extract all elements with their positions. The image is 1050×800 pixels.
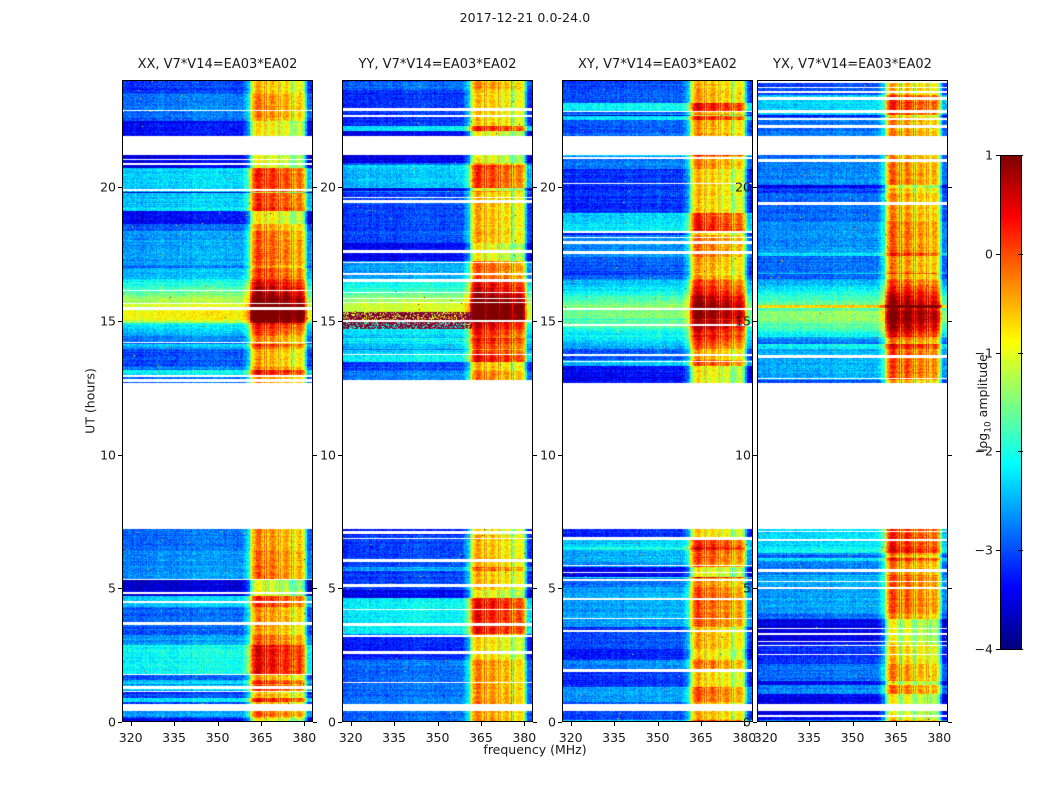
waterfall-image-yx	[758, 81, 947, 721]
colorbar-tick-inner-1	[1018, 550, 1023, 551]
x-tick-label-xx-335: 335	[162, 730, 186, 745]
waterfall-image-xx	[123, 81, 312, 721]
y-tick-yy-10	[338, 455, 342, 456]
y-tick-right-yx-15	[948, 321, 952, 322]
colorbar-tick-inner-4	[1018, 254, 1023, 255]
y-tick-label-yx-15: 15	[735, 313, 751, 328]
y-tick-right-yy-5	[533, 588, 537, 589]
x-tick-xx-365	[261, 722, 262, 726]
x-tick-label-xx-320: 320	[119, 730, 143, 745]
y-tick-yx-10	[753, 455, 757, 456]
y-tick-right-yy-0	[533, 722, 537, 723]
x-tick-xx-335	[174, 722, 175, 726]
y-tick-xx-15	[118, 321, 122, 322]
panel-plot-area-yx[interactable]	[757, 80, 948, 722]
x-tick-yy-320	[351, 722, 352, 726]
panel-title-xx: XX, V7*V14=EA03*EA02	[138, 57, 298, 72]
colorbar-tick-label-0: −4	[975, 642, 993, 657]
y-tick-yx-20	[753, 187, 757, 188]
y-tick-right-xx-5	[313, 588, 317, 589]
x-tick-xy-365	[701, 722, 702, 726]
y-tick-xy-0	[558, 722, 562, 723]
y-tick-xy-15	[558, 321, 562, 322]
x-tick-xy-320	[571, 722, 572, 726]
x-tick-label-xx-380: 380	[292, 730, 316, 745]
y-tick-xy-10	[558, 455, 562, 456]
x-tick-yy-380	[524, 722, 525, 726]
x-tick-label-yy-320: 320	[339, 730, 363, 745]
y-tick-label-yx-20: 20	[735, 180, 751, 195]
x-tick-label-xx-365: 365	[249, 730, 273, 745]
y-tick-label-xy-0: 0	[548, 715, 556, 730]
y-tick-right-xx-20	[313, 187, 317, 188]
y-tick-label-xx-10: 10	[100, 447, 116, 462]
x-tick-yx-335	[809, 722, 810, 726]
x-tick-label-xx-350: 350	[206, 730, 230, 745]
y-tick-label-xx-20: 20	[100, 180, 116, 195]
y-tick-label-xx-5: 5	[108, 581, 116, 596]
colorbar-tick-inner-3	[1018, 353, 1023, 354]
y-tick-yy-20	[338, 187, 342, 188]
y-tick-yx-0	[753, 722, 757, 723]
panel-plot-area-yy[interactable]	[342, 80, 533, 722]
y-tick-yx-15	[753, 321, 757, 322]
y-tick-label-xy-15: 15	[540, 313, 556, 328]
colorbar-tick-1	[996, 550, 1001, 551]
x-tick-xx-320	[131, 722, 132, 726]
x-tick-xx-350	[218, 722, 219, 726]
waterfall-image-yy	[343, 81, 532, 721]
y-tick-xx-0	[118, 722, 122, 723]
colorbar-tick-0	[996, 649, 1001, 650]
x-tick-label-yx-320: 320	[754, 730, 778, 745]
colorbar-tick-2	[996, 451, 1001, 452]
colorbar-tick-label-4: 0	[985, 246, 993, 261]
x-tick-xx-380	[304, 722, 305, 726]
x-tick-xy-350	[658, 722, 659, 726]
y-tick-right-yx-10	[948, 455, 952, 456]
y-tick-yy-5	[338, 588, 342, 589]
y-tick-label-xx-15: 15	[100, 313, 116, 328]
y-tick-label-xy-5: 5	[548, 581, 556, 596]
x-tick-label-yy-350: 350	[426, 730, 450, 745]
x-tick-label-xy-350: 350	[646, 730, 670, 745]
y-tick-yy-15	[338, 321, 342, 322]
y-tick-right-yx-5	[948, 588, 952, 589]
y-tick-xy-20	[558, 187, 562, 188]
y-tick-yy-0	[338, 722, 342, 723]
y-tick-yx-5	[753, 588, 757, 589]
y-tick-label-yy-10: 10	[320, 447, 336, 462]
x-tick-label-yx-350: 350	[841, 730, 865, 745]
colorbar-label-prefix: log	[975, 433, 990, 452]
colorbar-label-subscript: 10	[983, 421, 993, 432]
x-tick-xy-335	[614, 722, 615, 726]
y-tick-label-xx-0: 0	[108, 715, 116, 730]
y-tick-label-yx-10: 10	[735, 447, 751, 462]
y-tick-label-yy-20: 20	[320, 180, 336, 195]
x-tick-label-yx-365: 365	[884, 730, 908, 745]
y-tick-right-xx-15	[313, 321, 317, 322]
y-tick-right-yy-15	[533, 321, 537, 322]
x-tick-label-yx-335: 335	[797, 730, 821, 745]
x-tick-yx-380	[939, 722, 940, 726]
panel-yy[interactable]: YY, V7*V14=EA03*EA0232033535036538005101…	[342, 80, 533, 722]
colorbar-tick-label-5: 1	[985, 148, 993, 163]
panel-title-yy: YY, V7*V14=EA03*EA02	[359, 57, 517, 72]
y-tick-label-yy-5: 5	[328, 581, 336, 596]
x-tick-label-yx-380: 380	[927, 730, 951, 745]
y-tick-label-yx-0: 0	[743, 715, 751, 730]
y-tick-xx-10	[118, 455, 122, 456]
figure-canvas: 2017-12-21 0.0-24.0 XX, V7*V14=EA03*EA02…	[0, 0, 1050, 800]
panel-yx[interactable]: YX, V7*V14=EA03*EA0232033535036538005101…	[757, 80, 948, 722]
y-tick-right-yx-20	[948, 187, 952, 188]
colorbar-tick-label-1: −3	[975, 543, 993, 558]
colorbar-gradient	[1000, 155, 1022, 650]
x-axis-label: frequency (MHz)	[483, 742, 586, 757]
panel-xy[interactable]: XY, V7*V14=EA03*EA0232033535036538005101…	[562, 80, 753, 722]
x-tick-label-yy-335: 335	[382, 730, 406, 745]
y-tick-xy-5	[558, 588, 562, 589]
x-tick-yy-350	[438, 722, 439, 726]
y-tick-right-xx-0	[313, 722, 317, 723]
colorbar-tick-3	[996, 353, 1001, 354]
x-tick-label-xy-365: 365	[689, 730, 713, 745]
colorbar-label-suffix: amplitude	[975, 354, 990, 421]
colorbar-tick-inner-0	[1018, 649, 1023, 650]
y-tick-label-yy-15: 15	[320, 313, 336, 328]
colorbar[interactable]: −4−3−2−101	[1000, 155, 1022, 650]
y-tick-right-xx-10	[313, 455, 317, 456]
figure-suptitle: 2017-12-21 0.0-24.0	[0, 10, 1050, 25]
y-tick-xx-20	[118, 187, 122, 188]
y-tick-right-yy-10	[533, 455, 537, 456]
y-tick-label-yx-5: 5	[743, 581, 751, 596]
panel-title-xy: XY, V7*V14=EA03*EA02	[578, 57, 737, 72]
x-tick-yy-365	[481, 722, 482, 726]
y-tick-label-xy-10: 10	[540, 447, 556, 462]
x-tick-label-xy-380: 380	[732, 730, 756, 745]
x-tick-yy-335	[394, 722, 395, 726]
colorbar-tick-inner-5	[1018, 155, 1023, 156]
panel-xx[interactable]: XX, V7*V14=EA03*EA0232033535036538005101…	[122, 80, 313, 722]
colorbar-label: log10 amplitude	[975, 354, 994, 452]
panel-title-yx: YX, V7*V14=EA03*EA02	[773, 57, 932, 72]
x-tick-yx-365	[896, 722, 897, 726]
colorbar-tick-4	[996, 254, 1001, 255]
y-tick-right-yy-20	[533, 187, 537, 188]
y-tick-label-yy-0: 0	[328, 715, 336, 730]
panel-plot-area-xx[interactable]	[122, 80, 313, 722]
colorbar-tick-5	[996, 155, 1001, 156]
colorbar-tick-inner-2	[1018, 451, 1023, 452]
y-tick-label-xy-20: 20	[540, 180, 556, 195]
x-tick-yx-320	[766, 722, 767, 726]
x-tick-yx-350	[853, 722, 854, 726]
y-axis-label: UT (hours)	[83, 368, 98, 434]
panel-plot-area-xy[interactable]	[562, 80, 753, 722]
y-tick-xx-5	[118, 588, 122, 589]
waterfall-image-xy	[563, 81, 752, 721]
x-tick-label-xy-335: 335	[602, 730, 626, 745]
y-tick-right-yx-0	[948, 722, 952, 723]
